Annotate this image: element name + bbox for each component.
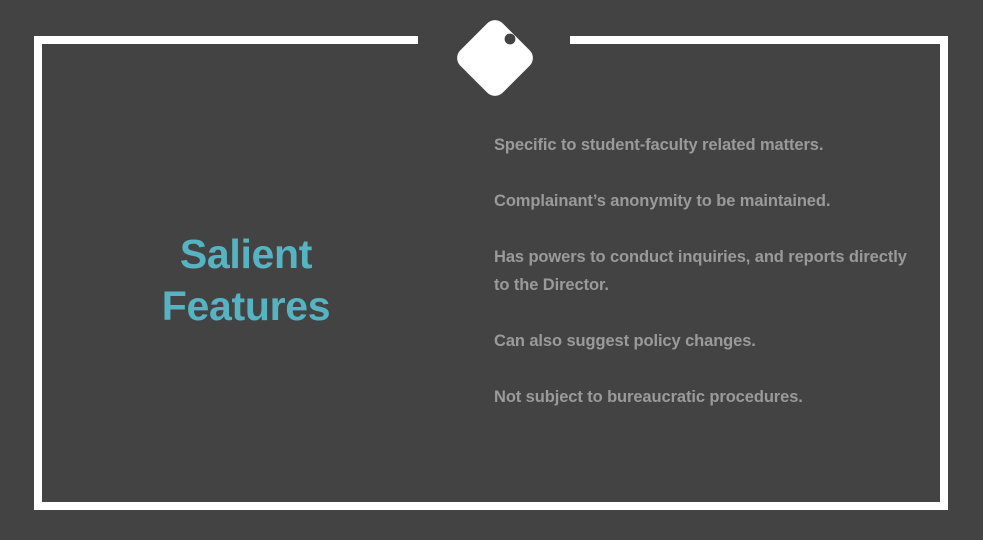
- page-title-line-2: Features: [60, 280, 432, 332]
- frame-border-top-left: [34, 36, 418, 44]
- frame-border-bottom: [34, 502, 948, 510]
- list-item: Has powers to conduct inquiries, and rep…: [494, 243, 924, 299]
- frame-border-right: [940, 36, 948, 510]
- frame-border-top-right: [570, 36, 948, 44]
- page-title: Salient Features: [60, 228, 432, 332]
- frame-border-left: [34, 36, 42, 510]
- list-item: Specific to student-faculty related matt…: [494, 131, 924, 159]
- slide-canvas: Salient Features Specific to student-fac…: [0, 0, 983, 540]
- list-item: Can also suggest policy changes.: [494, 327, 924, 355]
- features-list: Specific to student-faculty related matt…: [494, 131, 924, 411]
- list-item: Not subject to bureaucratic procedures.: [494, 383, 924, 411]
- tag-icon: [447, 10, 543, 106]
- page-title-line-1: Salient: [60, 228, 432, 280]
- list-item: Complainant’s anonymity to be maintained…: [494, 187, 924, 215]
